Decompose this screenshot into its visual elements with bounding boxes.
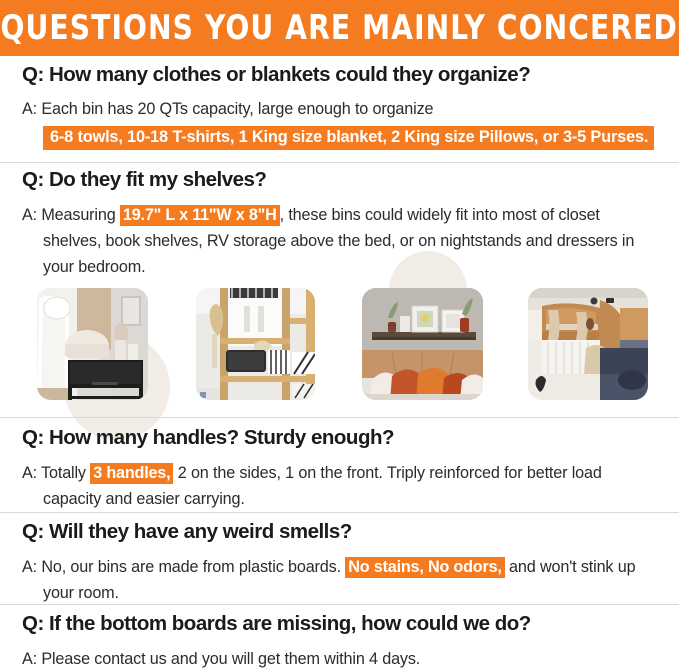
faq-answer-bottom-boards: A: Please contact us and you will get th… bbox=[22, 646, 662, 672]
faq-highlight-handles: 3 handles, bbox=[90, 463, 173, 484]
faq-highlight-capacity: 6-8 towls, 10-18 T-shirts, 1 King size b… bbox=[43, 126, 654, 150]
faq-question-handles: Q: How many handles? Sturdy enough? bbox=[22, 427, 662, 450]
divider-3 bbox=[0, 512, 679, 513]
faq-item-capacity: Q: How many clothes or blankets could th… bbox=[22, 64, 662, 150]
faq-item-bottom-boards: Q: If the bottom boards are missing, how… bbox=[22, 613, 662, 672]
divider-4 bbox=[0, 604, 679, 605]
faq-answer-smells: A: No, our bins are made from plastic bo… bbox=[22, 554, 662, 606]
faq-highlight-dimensions: 19.7" L x 11"W x 8"H bbox=[120, 205, 280, 226]
faq-item-dimensions: Q: Do they fit my shelves? A: Measuring … bbox=[22, 169, 662, 280]
faq-question-dimensions: Q: Do they fit my shelves? bbox=[22, 169, 662, 192]
faq-answer-dimensions-before: A: Measuring bbox=[22, 206, 120, 224]
photo-shelving bbox=[196, 288, 315, 400]
faq-highlight-capacity-row: 6-8 towls, 10-18 T-shirts, 1 King size b… bbox=[22, 126, 662, 150]
faq-answer-handles: A: Totally 3 handles, 2 on the sides, 1 … bbox=[22, 460, 662, 512]
divider-1 bbox=[0, 162, 679, 163]
faq-question-bottom-boards: Q: If the bottom boards are missing, how… bbox=[22, 613, 662, 636]
faq-item-handles: Q: How many handles? Sturdy enough? A: T… bbox=[22, 427, 662, 512]
faq-answer-dimensions: A: Measuring 19.7" L x 11"W x 8"H, these… bbox=[22, 202, 662, 281]
faq-answer-capacity: A: Each bin has 20 QTs capacity, large e… bbox=[22, 96, 662, 122]
photo-rv-storage bbox=[528, 288, 648, 400]
faq-question-smells: Q: Will they have any weird smells? bbox=[22, 521, 662, 544]
faq-answer-bottom-boards-text: A: Please contact us and you will get th… bbox=[22, 650, 420, 668]
faq-content: Q: How many clothes or blankets could th… bbox=[0, 56, 679, 672]
faq-item-smells: Q: Will they have any weird smells? A: N… bbox=[22, 521, 662, 606]
faq-highlight-smells: No stains, No odors, bbox=[345, 557, 504, 578]
page-header-banner: QUESTIONS YOU ARE MAINLY CONCERED bbox=[0, 0, 679, 56]
photo-bedroom-shelf bbox=[362, 288, 483, 400]
faq-question-capacity: Q: How many clothes or blankets could th… bbox=[22, 64, 662, 87]
page-title: QUESTIONS YOU ARE MAINLY CONCERED bbox=[1, 8, 678, 48]
faq-answer-capacity-text: A: Each bin has 20 QTs capacity, large e… bbox=[22, 100, 433, 118]
faq-answer-smells-before: A: No, our bins are made from plastic bo… bbox=[22, 558, 345, 576]
faq-answer-handles-before: A: Totally bbox=[22, 464, 90, 482]
divider-2 bbox=[0, 417, 679, 418]
photo-nightstand bbox=[37, 288, 148, 400]
